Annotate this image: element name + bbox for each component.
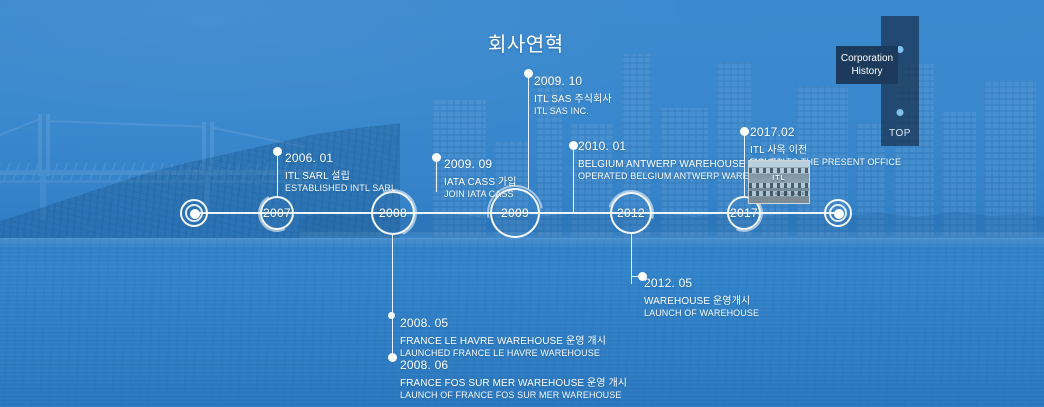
timeline-node-start[interactable] — [180, 199, 208, 227]
connector-2008 — [392, 235, 393, 358]
event-2006-01[interactable]: 2006. 01 ITL SARL 설립 ESTABLISHED INTL SA… — [285, 151, 396, 193]
event-2008-05[interactable]: 2008. 05 FRANCE LE HAVRE WAREHOUSE 운영 개시… — [400, 316, 606, 358]
event-title-ko: ITL 사옥 이전 — [750, 141, 901, 156]
event-title-en: ITL SAS INC. — [534, 106, 612, 116]
event-title-ko: FRANCE FOS SUR MER WAREHOUSE 운영 개시 — [400, 374, 627, 389]
event-title-en: LAUNCH OF WAREHOUSE — [644, 308, 759, 318]
event-title-en: ESTABLISHED INTL SARL — [285, 183, 396, 193]
event-date: 2009. 10 — [534, 74, 612, 88]
timeline-stage: 회사연혁 2007 2008 2009 2012 2017 — [0, 0, 1044, 407]
event-title-ko: WAREHOUSE 운영개시 — [644, 292, 759, 307]
photo-ground — [749, 197, 809, 203]
timeline-node-2007[interactable]: 2007 — [260, 196, 294, 230]
photo-caption: SEOUL PLATE — [775, 191, 805, 196]
event-2009-09[interactable]: 2009. 09 IATA CASS 가입 JOIN IATA CASS — [444, 157, 517, 199]
tooltip-line-2: History — [851, 65, 882, 78]
connector-bullet-2008-06 — [388, 353, 397, 362]
event-title-ko: FRANCE LE HAVRE WAREHOUSE 운영 개시 — [400, 332, 606, 347]
event-title-en: JOIN IATA CASS — [444, 189, 517, 199]
connector-2009-10 — [528, 76, 529, 189]
timeline-node-2008[interactable]: 2008 — [371, 191, 415, 235]
event-date: 2009. 09 — [444, 157, 517, 171]
connector-bullet-2006-01 — [273, 147, 282, 156]
photo-brand-label: ITL — [772, 175, 786, 182]
event-date: 2008. 06 — [400, 358, 627, 372]
connector-bullet-2010-01 — [569, 141, 578, 150]
connector-2012-05-elbow — [631, 276, 643, 277]
event-date: 2012. 05 — [644, 276, 759, 290]
connector-bullet-2009-10 — [524, 69, 533, 78]
event-date: 2006. 01 — [285, 151, 396, 165]
connector-bullet-2017-02 — [740, 127, 749, 136]
event-date: 2017.02 — [750, 125, 901, 139]
connector-2006-01 — [277, 152, 278, 196]
event-2008-06[interactable]: 2008. 06 FRANCE FOS SUR MER WAREHOUSE 운영… — [400, 358, 627, 400]
photo-window-row — [749, 183, 809, 188]
scroll-to-top-button[interactable]: TOP — [881, 128, 919, 139]
office-building-photo[interactable]: ITL SEOUL PLATE — [748, 160, 810, 204]
page-title: 회사연혁 — [488, 28, 564, 57]
photo-window-row — [749, 168, 809, 173]
side-nav-tooltip[interactable]: Corporation History — [836, 46, 898, 84]
timeline-node-2012[interactable]: 2012 — [610, 192, 652, 234]
event-title-en: LAUNCH OF FRANCE FOS SUR MER WAREHOUSE — [400, 390, 627, 400]
connector-2010-01 — [573, 146, 574, 213]
event-title-ko: ITL SAS 주식회사 — [534, 90, 612, 105]
connector-2009-09 — [436, 158, 437, 192]
tooltip-line-1: Corporation — [841, 52, 893, 65]
event-2009-10[interactable]: 2009. 10 ITL SAS 주식회사 ITL SAS INC. — [534, 74, 612, 116]
timeline-node-end[interactable] — [824, 199, 852, 227]
event-title-ko: ITL SARL 설립 — [285, 167, 396, 182]
event-date: 2008. 05 — [400, 316, 606, 330]
photo-sky — [749, 161, 809, 167]
side-nav-dot-icon[interactable] — [897, 109, 904, 116]
event-title-ko: IATA CASS 가입 — [444, 173, 517, 188]
event-title-en: LAUNCHED FRANCE LE HAVRE WAREHOUSE — [400, 348, 606, 358]
event-2012-05[interactable]: 2012. 05 WAREHOUSE 운영개시 LAUNCH OF WAREHO… — [644, 276, 759, 318]
connector-bullet-2008-05 — [388, 312, 395, 319]
connector-bullet-2009-09 — [432, 153, 441, 162]
